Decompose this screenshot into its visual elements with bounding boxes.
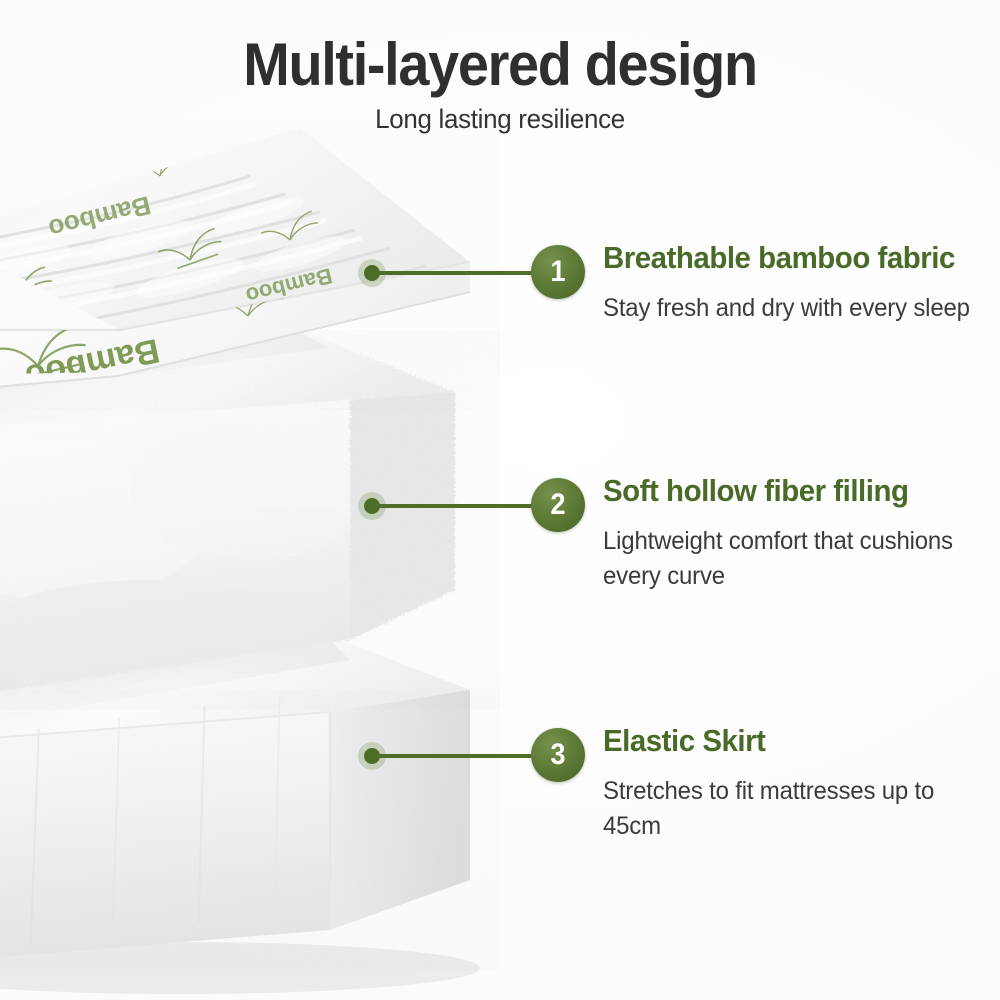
header: Multi-layered design Long lasting resili…	[0, 34, 1000, 135]
page-title: Multi-layered design	[35, 34, 965, 96]
leader-connector-icon	[375, 504, 553, 508]
callout-text-3: Elastic Skirt Stretches to fit mattresse…	[603, 723, 993, 845]
callout-number-2: 2	[534, 478, 583, 532]
callout-list: 1 Breathable bamboo fabric Stay fresh an…	[0, 0, 1000, 1000]
callout-heading-1: Breathable bamboo fabric	[603, 240, 974, 277]
callout-description-2: Lightweight comfort that cushions every …	[603, 524, 977, 595]
callout-heading-3: Elastic Skirt	[603, 723, 974, 760]
callout-text-2: Soft hollow fiber filling Lightweight co…	[603, 473, 993, 595]
callout-description-1: Stay fresh and dry with every sleep	[603, 291, 977, 327]
infographic-canvas: Bamboo Bamboo Bamboo	[0, 0, 1000, 1000]
callout-text-1: Breathable bamboo fabric Stay fresh and …	[603, 240, 993, 326]
leader-connector-icon	[375, 754, 553, 758]
callout-number-1: 1	[534, 245, 583, 299]
callout-badge-2: 2	[531, 478, 585, 532]
callout-badge-1: 1	[531, 245, 585, 299]
callout-badge-3: 3	[531, 728, 585, 782]
callout-description-3: Stretches to fit mattresses up to 45cm	[603, 774, 977, 845]
callout-heading-2: Soft hollow fiber filling	[603, 473, 974, 510]
page-subtitle: Long lasting resilience	[20, 104, 980, 135]
leader-connector-icon	[375, 271, 553, 275]
callout-number-3: 3	[534, 728, 583, 782]
